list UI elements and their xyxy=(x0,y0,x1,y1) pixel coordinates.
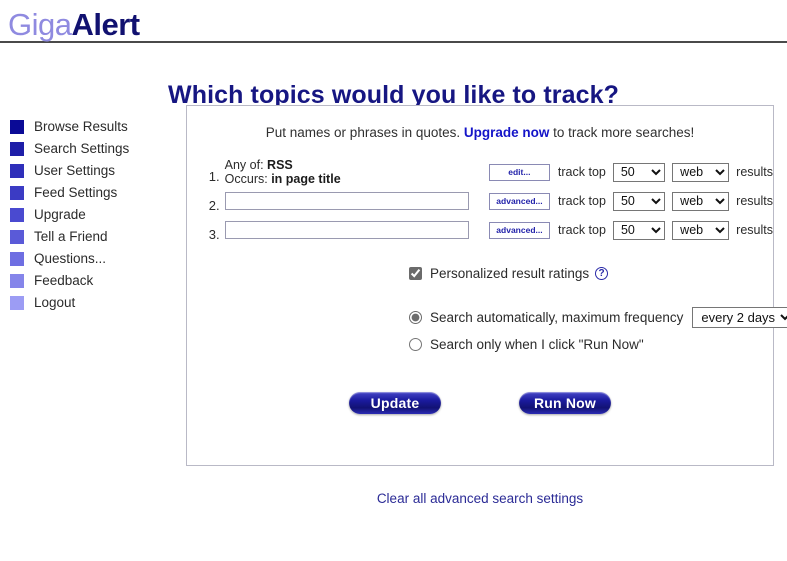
sidebar-item-upgrade[interactable]: Upgrade xyxy=(10,204,180,226)
sidebar-item-label: Upgrade xyxy=(34,204,86,226)
advanced-query-button[interactable]: advanced... xyxy=(489,222,550,239)
result-type-select[interactable]: webnewsblogs xyxy=(672,192,729,211)
query-input[interactable] xyxy=(225,221,469,239)
personalized-ratings-label: Personalized result ratings xyxy=(430,266,589,281)
sidebar-item-label: Feed Settings xyxy=(34,182,117,204)
intro-text-after: to track more searches! xyxy=(549,125,694,140)
sidebar-item-label: Feedback xyxy=(34,270,93,292)
query-occurs-line: Occurs: in page title xyxy=(225,172,469,186)
brand-logo-light: Giga xyxy=(8,7,71,42)
query-rows: 1.Any of: RSSOccurs: in page titleedit..… xyxy=(187,158,773,244)
schedule-auto-radio[interactable] xyxy=(409,311,422,324)
run-now-button[interactable]: Run Now xyxy=(519,392,611,414)
sidebar-item-user-settings[interactable]: User Settings xyxy=(10,160,180,182)
result-count-select[interactable]: 102050100 xyxy=(613,163,665,182)
sidebar-nav: Browse ResultsSearch SettingsUser Settin… xyxy=(10,116,180,314)
schedule-radio-group: Search automatically, maximum frequency … xyxy=(409,304,773,358)
query-occurs-value: in page title xyxy=(271,172,340,186)
personalized-ratings-row: Personalized result ratings ? xyxy=(409,261,773,285)
sidebar-bullet-icon xyxy=(10,252,24,266)
sidebar-bullet-icon xyxy=(10,208,24,222)
results-label: results xyxy=(736,223,773,237)
clear-advanced-settings-link[interactable]: Clear all advanced search settings xyxy=(377,491,583,506)
query-row: 1.Any of: RSSOccurs: in page titleedit..… xyxy=(203,158,773,186)
query-anyof-line: Any of: RSS xyxy=(225,158,469,172)
results-label: results xyxy=(736,194,773,208)
sidebar-item-feedback[interactable]: Feedback xyxy=(10,270,180,292)
schedule-manual-label: Search only when I click "Run Now" xyxy=(430,337,644,352)
query-row: 2.advanced...track top102050100webnewsbl… xyxy=(203,187,773,215)
sidebar-item-label: User Settings xyxy=(34,160,115,182)
upgrade-now-link[interactable]: Upgrade now xyxy=(464,125,550,140)
sidebar-item-label: Questions... xyxy=(34,248,106,270)
query-anyof-value: RSS xyxy=(267,158,293,172)
sidebar-item-logout[interactable]: Logout xyxy=(10,292,180,314)
frequency-select[interactable]: every dayevery 2 daysevery week xyxy=(692,307,787,328)
panel-actions: Update Run Now xyxy=(187,392,773,414)
results-label: results xyxy=(736,165,773,179)
track-top-label: track top xyxy=(558,194,606,208)
help-icon[interactable]: ? xyxy=(595,267,608,280)
panel-intro-text: Put names or phrases in quotes. Upgrade … xyxy=(187,125,773,140)
sidebar-item-tell-a-friend[interactable]: Tell a Friend xyxy=(10,226,180,248)
options-section: Personalized result ratings ? Search aut… xyxy=(187,261,773,358)
edit-query-button[interactable]: edit... xyxy=(489,164,550,181)
sidebar-item-label: Tell a Friend xyxy=(34,226,108,248)
sidebar-bullet-icon xyxy=(10,120,24,134)
result-type-select[interactable]: webnewsblogs xyxy=(672,221,729,240)
brand-logo-bold: Alert xyxy=(71,7,139,42)
query-row: 3.advanced...track top102050100webnewsbl… xyxy=(203,216,773,244)
brand-logo[interactable]: GigaAlert xyxy=(8,6,787,44)
sidebar-item-feed-settings[interactable]: Feed Settings xyxy=(10,182,180,204)
sidebar-item-search-settings[interactable]: Search Settings xyxy=(10,138,180,160)
sidebar-item-label: Search Settings xyxy=(34,138,129,160)
result-type-select[interactable]: webnewsblogs xyxy=(672,163,729,182)
track-top-label: track top xyxy=(558,223,606,237)
query-row-number: 3. xyxy=(203,227,225,244)
sidebar-bullet-icon xyxy=(10,296,24,310)
sidebar-bullet-icon xyxy=(10,142,24,156)
sidebar-item-questions[interactable]: Questions... xyxy=(10,248,180,270)
intro-text-before: Put names or phrases in quotes. xyxy=(266,125,464,140)
track-top-label: track top xyxy=(558,165,606,179)
sidebar-item-label: Logout xyxy=(34,292,75,314)
result-count-select[interactable]: 102050100 xyxy=(613,221,665,240)
result-count-select[interactable]: 102050100 xyxy=(613,192,665,211)
page-header: GigaAlert xyxy=(0,0,787,41)
topics-panel: Put names or phrases in quotes. Upgrade … xyxy=(186,105,774,466)
footer-link-wrap: Clear all advanced search settings xyxy=(186,490,774,508)
sidebar-item-label: Browse Results xyxy=(34,116,128,138)
sidebar-bullet-icon xyxy=(10,274,24,288)
sidebar-bullet-icon xyxy=(10,230,24,244)
sidebar-bullet-icon xyxy=(10,186,24,200)
schedule-auto-row: Search automatically, maximum frequency … xyxy=(409,304,773,331)
advanced-query-button[interactable]: advanced... xyxy=(489,193,550,210)
query-summary: Any of: RSSOccurs: in page title xyxy=(225,158,469,186)
schedule-manual-radio[interactable] xyxy=(409,338,422,351)
query-input[interactable] xyxy=(225,192,469,210)
query-anyof-label: Any of: xyxy=(225,158,264,172)
query-row-number: 1. xyxy=(203,169,225,186)
personalized-ratings-checkbox[interactable] xyxy=(409,267,422,280)
sidebar-item-browse-results[interactable]: Browse Results xyxy=(10,116,180,138)
sidebar-bullet-icon xyxy=(10,164,24,178)
schedule-manual-row: Search only when I click "Run Now" xyxy=(409,331,773,358)
query-occurs-label: Occurs: xyxy=(225,172,268,186)
query-row-number: 2. xyxy=(203,198,225,215)
update-button[interactable]: Update xyxy=(349,392,441,414)
schedule-auto-label: Search automatically, maximum frequency xyxy=(430,310,683,325)
